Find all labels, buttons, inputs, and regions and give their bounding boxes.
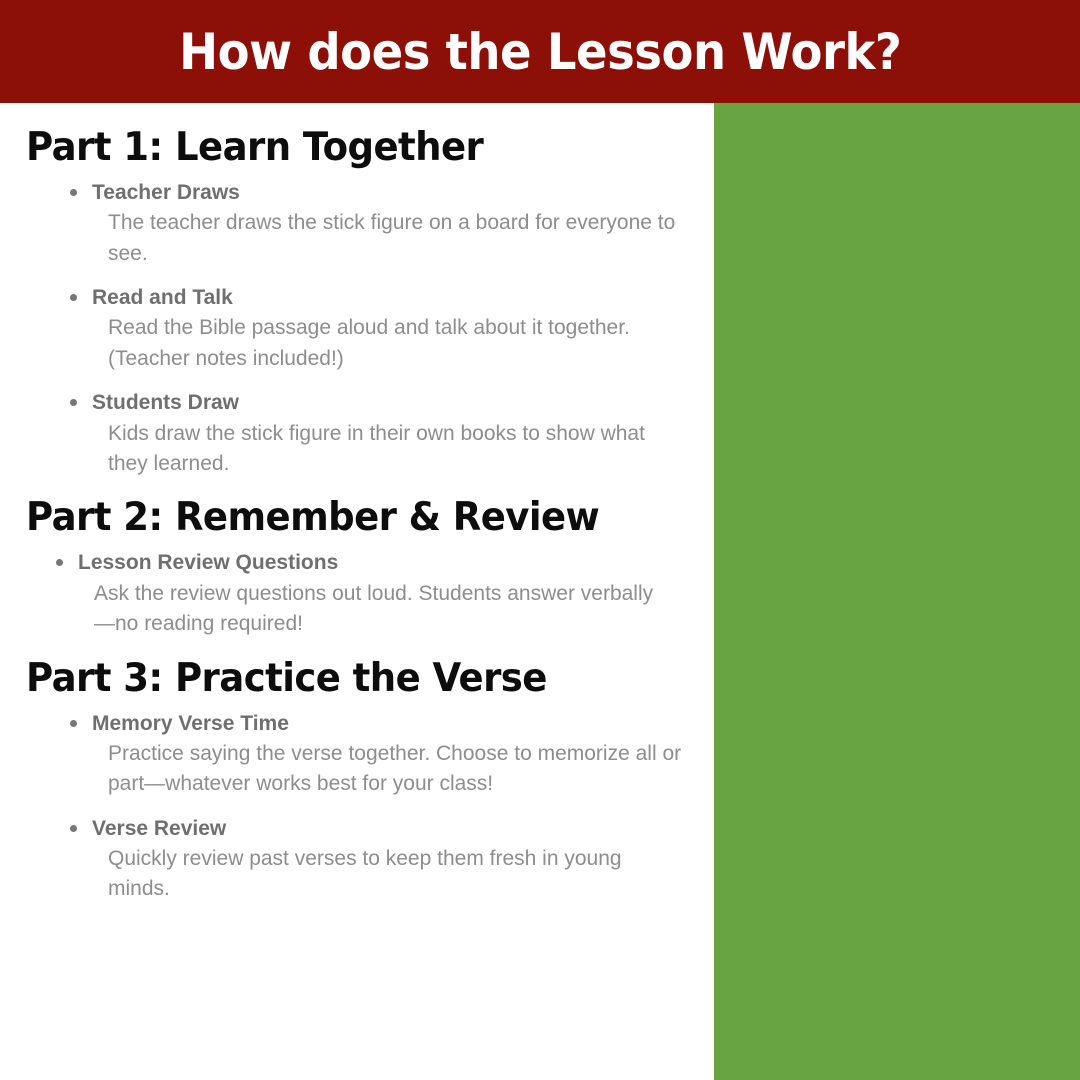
list-item-title: Students Draw bbox=[92, 390, 688, 416]
list-item-description: Read the Bible passage aloud and talk ab… bbox=[92, 313, 688, 374]
bullet-dot-icon bbox=[70, 720, 77, 727]
image-panel: Grapevine Studies Birth of Jesus Mary Me… bbox=[714, 103, 1080, 1080]
page-title: How does the Lesson Work? bbox=[179, 23, 901, 81]
list-item-title: Teacher Draws bbox=[92, 180, 688, 206]
list-item-description: Quickly review past verses to keep them … bbox=[92, 844, 688, 905]
list-item: Memory Verse Time Practice saying the ve… bbox=[26, 711, 688, 800]
bullet-list: Teacher Draws The teacher draws the stic… bbox=[26, 180, 688, 479]
bullet-dot-icon bbox=[70, 399, 77, 406]
header-banner: How does the Lesson Work? bbox=[0, 0, 1080, 103]
bullet-dot-icon bbox=[56, 559, 63, 566]
bullet-dot-icon bbox=[70, 189, 77, 196]
bullet-list: Memory Verse Time Practice saying the ve… bbox=[26, 711, 688, 905]
bullet-dot-icon bbox=[70, 825, 77, 832]
list-item: Students Draw Kids draw the stick figure… bbox=[26, 390, 688, 479]
content-column: Part 1: Learn Together Teacher Draws The… bbox=[0, 103, 714, 1080]
list-item: Verse Review Quickly review past verses … bbox=[26, 816, 688, 905]
list-item-description: Ask the review questions out loud. Stude… bbox=[78, 579, 674, 640]
bullet-list: Lesson Review Questions Ask the review q… bbox=[26, 550, 688, 639]
section-part-1: Part 1: Learn Together Teacher Draws The… bbox=[26, 125, 688, 479]
list-item-description: Practice saying the verse together. Choo… bbox=[92, 739, 688, 800]
section-part-3: Part 3: Practice the Verse Memory Verse … bbox=[26, 656, 688, 905]
list-item-description: The teacher draws the stick figure on a … bbox=[92, 208, 688, 269]
list-item-title: Read and Talk bbox=[92, 285, 688, 311]
list-item-title: Verse Review bbox=[92, 816, 688, 842]
list-item-title: Memory Verse Time bbox=[92, 711, 688, 737]
list-item: Teacher Draws The teacher draws the stic… bbox=[26, 180, 688, 269]
list-item-title: Lesson Review Questions bbox=[78, 550, 688, 576]
poster-canvas: How does the Lesson Work? Grapevine Stud… bbox=[0, 0, 1080, 1080]
section-heading: Part 3: Practice the Verse bbox=[26, 656, 655, 701]
list-item-description: Kids draw the stick figure in their own … bbox=[92, 419, 688, 480]
section-heading: Part 1: Learn Together bbox=[26, 125, 655, 170]
section-part-2: Part 2: Remember & Review Lesson Review … bbox=[26, 495, 688, 639]
list-item: Lesson Review Questions Ask the review q… bbox=[26, 550, 688, 639]
list-item: Read and Talk Read the Bible passage alo… bbox=[26, 285, 688, 374]
section-heading: Part 2: Remember & Review bbox=[26, 495, 655, 540]
bullet-dot-icon bbox=[70, 294, 77, 301]
